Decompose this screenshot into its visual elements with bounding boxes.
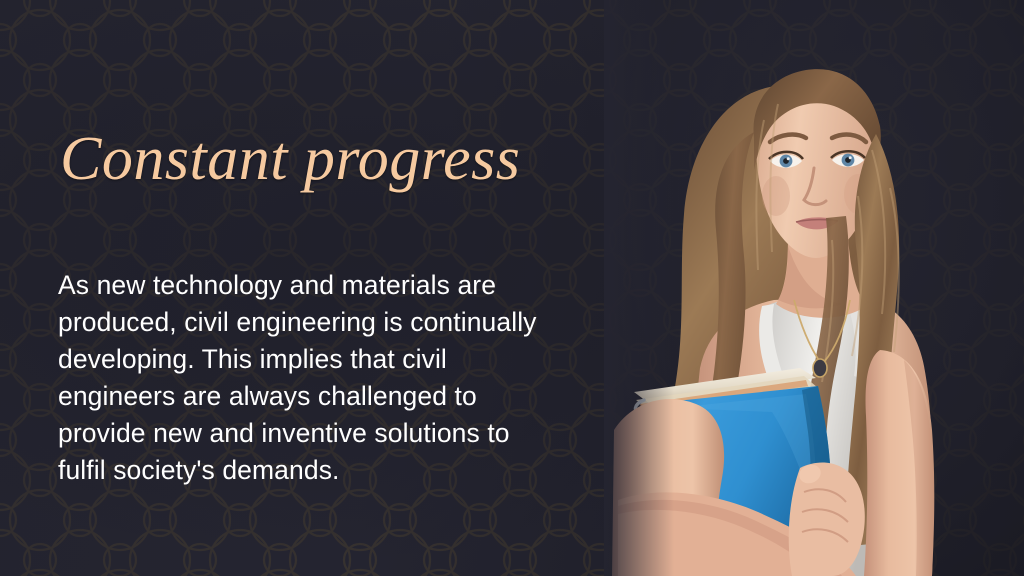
necklace-pendant: [813, 359, 827, 377]
body-paragraph: As new technology and materials are prod…: [58, 267, 558, 489]
student-photo: [604, 0, 1024, 576]
hand-right: [789, 463, 865, 576]
text-column: Constant progress As new technology and …: [0, 0, 600, 576]
slide-canvas: Constant progress As new technology and …: [0, 0, 1024, 576]
page-title: Constant progress: [60, 126, 580, 193]
